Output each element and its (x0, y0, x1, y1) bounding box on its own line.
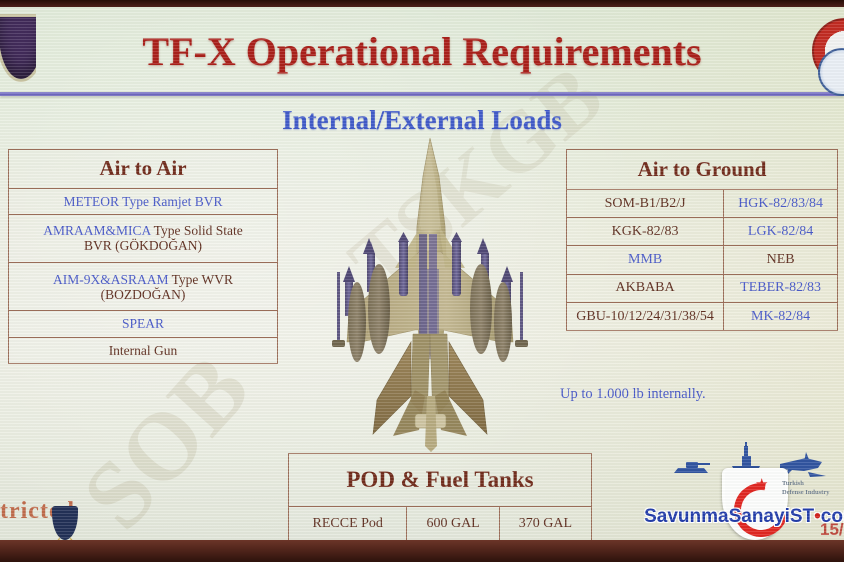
cell-text: Internal Gun (109, 343, 178, 358)
air-to-air-header: Air to Air (9, 150, 278, 189)
brand-name: SavunmaSanayiST (644, 506, 814, 527)
table-row: METEOR Type Ramjet BVR (9, 188, 278, 214)
page-subtitle: Internal/External Loads (0, 105, 844, 136)
cell-text: KGK-82/83 (567, 218, 724, 246)
caption-line-1: Turkish (782, 480, 804, 487)
screen-top-frame (0, 0, 844, 7)
air-force-crest-icon (0, 14, 36, 88)
cell-text: METEOR Type Ramjet BVR (64, 194, 223, 209)
cell-text: MK-82/84 (724, 302, 838, 330)
projection-slide: SOB TSKGB TF-X Operational Requirements … (0, 6, 844, 540)
cell-text: HGK-82/83/84 (724, 190, 838, 218)
cell-text: RECCE Pod (289, 507, 407, 542)
cell-text: SPEAR (122, 316, 164, 331)
page-title: TF-X Operational Requirements (0, 28, 844, 75)
table-row: SPEAR (9, 311, 278, 337)
table-row: RECCE Pod 600 GAL 370 GAL (289, 507, 592, 542)
table-row: Internal Gun (9, 337, 278, 363)
table-row: KGK-82/83 LGK-82/84 (567, 218, 838, 246)
savunmasanayist-watermark: ★ Turkish Defense Industry SavunmaSanayi… (672, 442, 832, 546)
turkish-defense-industry-caption: Turkish Defense Industry (782, 480, 844, 498)
cell-text: AMRAAM&MICA (43, 223, 150, 238)
air-to-ground-table: Air to Ground SOM-B1/B2/J HGK-82/83/84 K… (566, 149, 838, 331)
air-to-air-table: Air to Air METEOR Type Ramjet BVR AMRAAM… (8, 149, 278, 364)
air-to-ground-header: Air to Ground (567, 150, 838, 190)
cell-text: 370 GAL (499, 507, 591, 542)
organization-roundel-icon (812, 18, 844, 96)
cell-text: SOM-B1/B2/J (567, 190, 724, 218)
internal-load-note: Up to 1.000 lb internally. (560, 386, 820, 403)
cell-text: LGK-82/84 (724, 218, 838, 246)
table-row: AMRAAM&MICA Type Solid State BVR (GÖKDOĞ… (9, 214, 278, 262)
table-row: SOM-B1/B2/J HGK-82/83/84 (567, 190, 838, 218)
tfx-aircraft-illustration (315, 134, 545, 456)
cell-text: MMB (567, 246, 724, 274)
caption-line-2: Defense Industry (782, 489, 830, 496)
turkish-defense-crest-icon: ★ (722, 468, 788, 540)
cell-text: TEBER-82/83 (724, 274, 838, 302)
screen-bottom-frame (0, 540, 844, 562)
table-row: GBU-10/12/24/31/38/54 MK-82/84 (567, 302, 838, 330)
cell-text: (BOZDOĞAN) (101, 287, 186, 302)
table-row: AKBABA TEBER-82/83 (567, 274, 838, 302)
date-stamp: 15/3 (820, 520, 844, 540)
cell-text: BVR (GÖKDOĞAN) (84, 238, 202, 253)
pod-fuel-header: POD & Fuel Tanks (289, 454, 592, 507)
cell-text: NEB (724, 246, 838, 274)
screenshot-root: SOB TSKGB TF-X Operational Requirements … (0, 0, 844, 562)
cell-text: GBU-10/12/24/31/38/54 (567, 302, 724, 330)
title-divider (0, 92, 844, 96)
cell-text: Type Solid State (151, 223, 243, 238)
watermark-brand-text: SavunmaSanayiST•com (620, 506, 844, 528)
table-row: AIM-9X&ASRAAM Type WVR (BOZDOĞAN) (9, 263, 278, 311)
cell-text: AKBABA (567, 274, 724, 302)
cell-text: AIM-9X&ASRAAM (53, 272, 169, 287)
cell-text: 600 GAL (407, 507, 499, 542)
cell-text: Type WVR (168, 272, 233, 287)
table-row: MMB NEB (567, 246, 838, 274)
pod-fuel-tanks-table: POD & Fuel Tanks RECCE Pod 600 GAL 370 G… (288, 453, 592, 542)
